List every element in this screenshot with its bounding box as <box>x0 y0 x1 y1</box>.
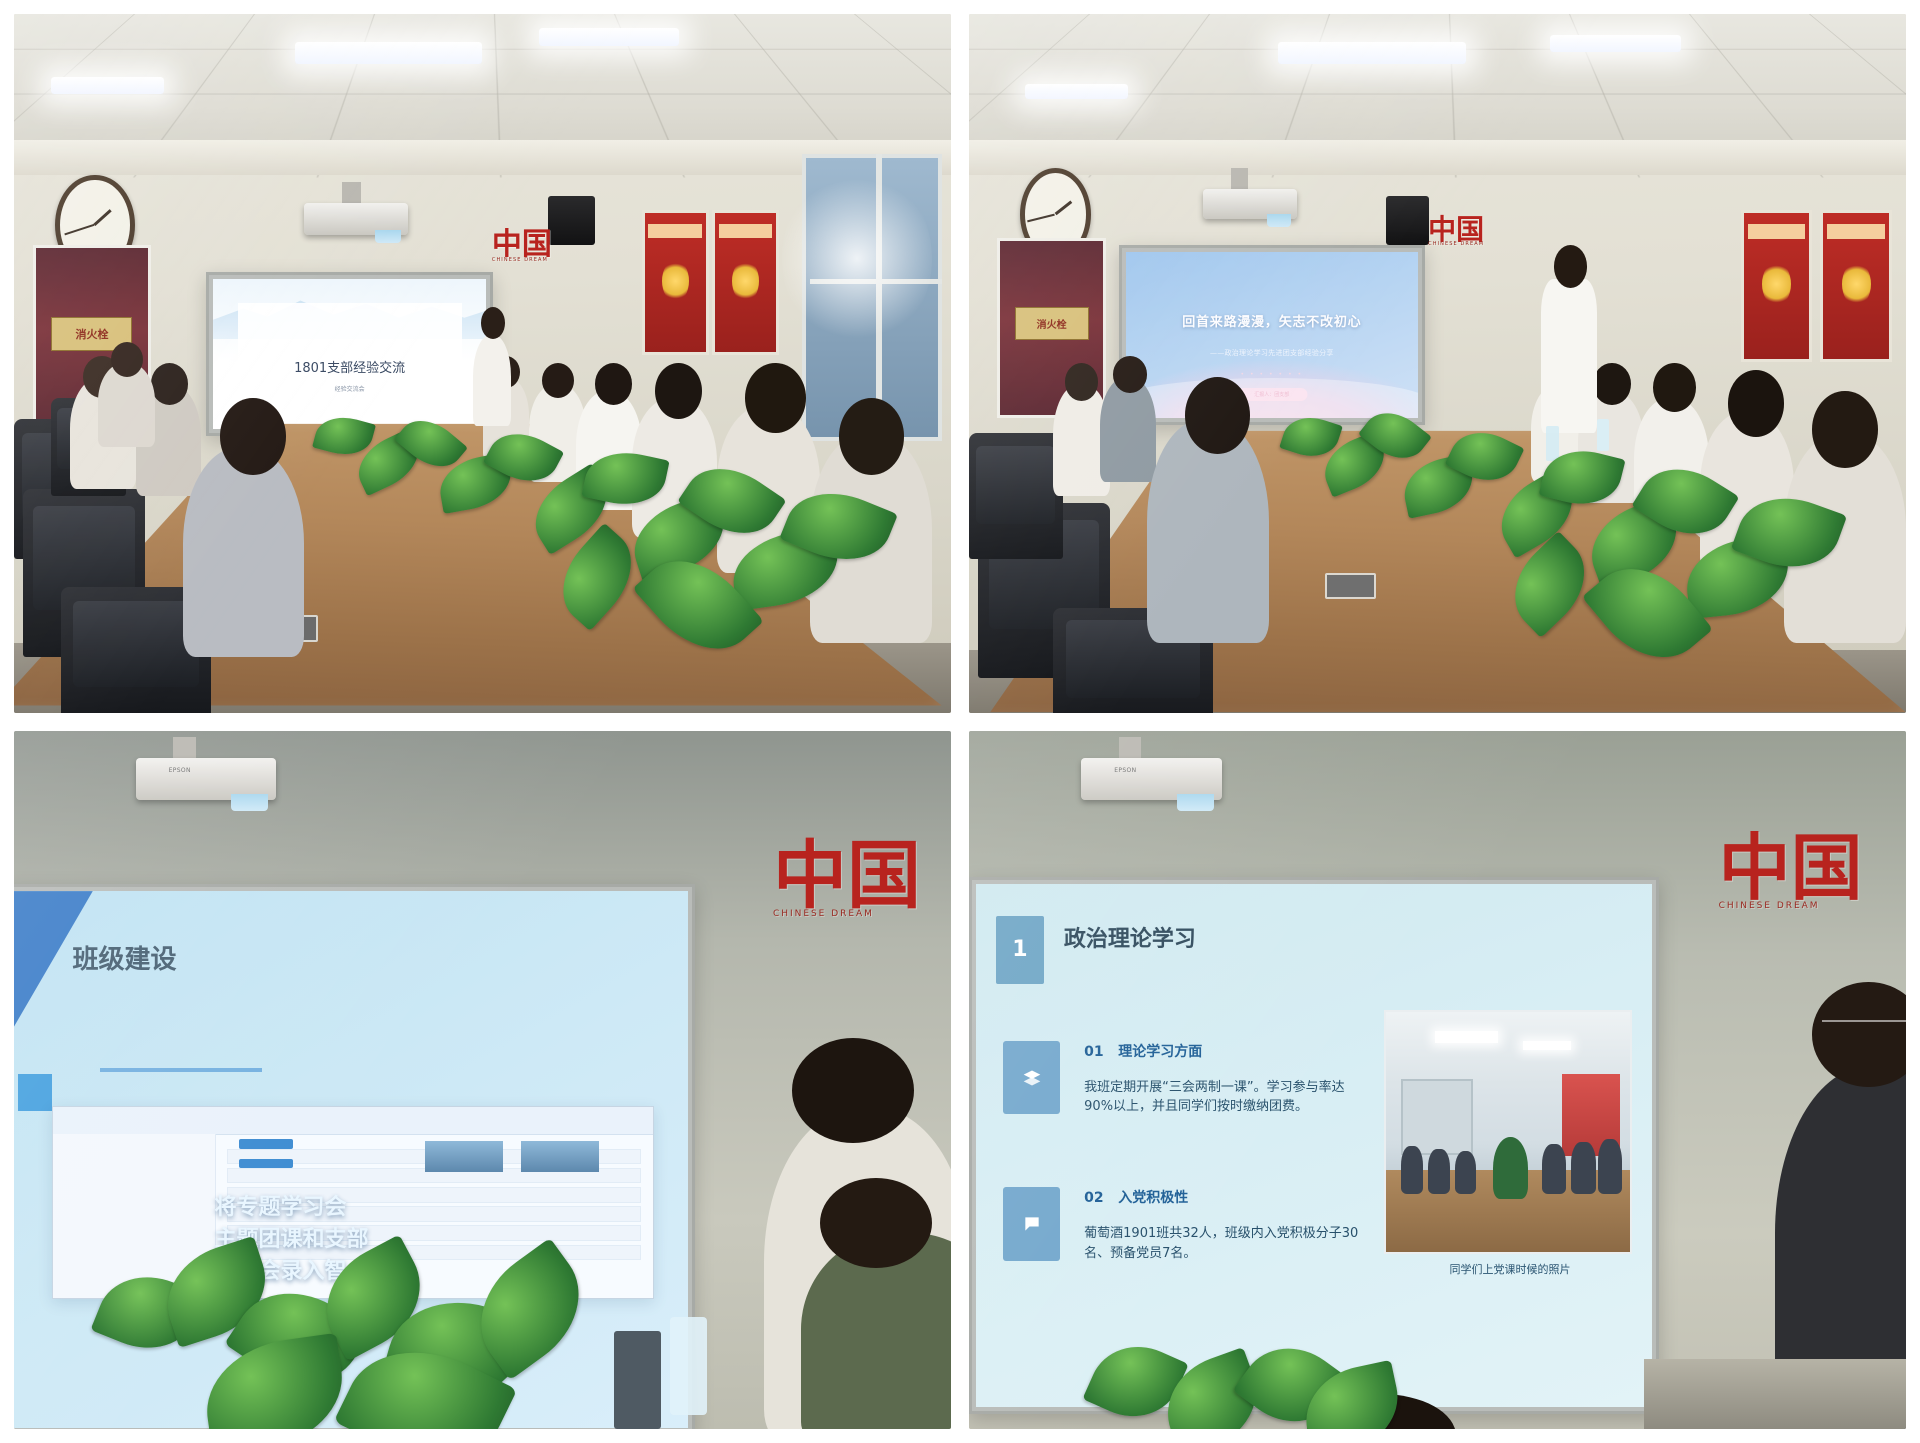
projector <box>136 758 277 800</box>
photo-ceiling-light <box>1523 1041 1572 1051</box>
person-head <box>1065 363 1099 401</box>
wall-speaker <box>1386 196 1429 245</box>
person-head <box>1113 356 1147 392</box>
projector-lens <box>1267 214 1291 227</box>
party-poster <box>1820 210 1892 363</box>
slide-divider <box>100 1068 262 1072</box>
item-index: 02 <box>1084 1190 1103 1206</box>
photo-person <box>1428 1149 1450 1195</box>
poster-emblem <box>732 260 759 302</box>
screenshot-button <box>239 1159 293 1169</box>
item-body: 我班定期开展“三会两制一课”。学习参与率达90%以上，并且同学们按时缴纳团费。 <box>1084 1078 1368 1117</box>
calligraphy-china: 中国 CHINESE DREAM <box>492 231 552 263</box>
poster-band <box>1827 224 1885 239</box>
photo-person <box>1571 1142 1595 1195</box>
person-head <box>820 1178 932 1269</box>
ceiling-light <box>295 42 482 64</box>
section-number-badge: 1 <box>996 916 1043 984</box>
layers-icon <box>1003 1041 1060 1114</box>
screenshot-button <box>239 1139 293 1149</box>
calligraphy-pinyin: CHINESE DREAM <box>492 258 552 263</box>
projector <box>1203 189 1297 220</box>
party-poster <box>1741 210 1813 363</box>
projector-lens <box>375 230 402 243</box>
chat-icon <box>1003 1187 1060 1260</box>
item-body: 葡萄酒1901班共32人，班级内入党积极分子30名、预备党员7名。 <box>1084 1224 1368 1263</box>
table-plant-row <box>1278 398 1821 705</box>
item-index: 01 <box>1084 1044 1103 1060</box>
slide-subtitle: ——政治理论学习先进团支部经验分享 <box>1138 348 1406 358</box>
wall-speaker <box>548 196 595 245</box>
seated-person <box>1100 377 1156 482</box>
plant-leaf <box>199 1333 352 1429</box>
screenshot-thumbnail <box>521 1141 599 1172</box>
calligraphy-china: 中国 CHINESE DREAM <box>1428 217 1484 247</box>
water-bottle <box>670 1317 707 1415</box>
overlay-line: 将专题学习会 <box>214 1192 674 1224</box>
poster-band <box>719 224 773 238</box>
person-head <box>151 363 188 405</box>
panel-top-left[interactable]: 消火栓 1801支部经验交流 经验交流会 <box>14 14 951 713</box>
calligraphy-china: 中国 CHINESE DREAM <box>1719 835 1863 910</box>
clock-hour-hand <box>1055 201 1073 216</box>
photo-person <box>1598 1139 1622 1194</box>
poster-emblem <box>1762 262 1791 306</box>
photo-caption: 同学们上党课时候的照片 <box>1388 1261 1631 1277</box>
person-head <box>792 1038 914 1143</box>
hydrant-label: 消火栓 <box>1015 307 1089 340</box>
ceiling-light <box>539 28 680 46</box>
projector-lens <box>1177 794 1214 812</box>
projection-screen: 1 政治理论学习 01 理论学习方面 我班定期开展“三会两制一课”。学习参与率达… <box>976 884 1652 1407</box>
slide-title: 回首来路漫漫，矢志不改初心 <box>1138 311 1406 330</box>
calligraphy-char: 中国 <box>1719 826 1863 910</box>
projector <box>304 203 407 235</box>
slide-subtitle: 经验交流会 <box>213 384 486 393</box>
photo-ceiling <box>1386 1012 1629 1084</box>
slide-dot-row: • • • • • • • <box>1126 371 1418 378</box>
ceiling-soffit <box>969 140 1906 175</box>
projector-brand-label: EPSON <box>1114 767 1136 774</box>
poster-emblem <box>1842 262 1871 306</box>
presenter-head <box>1554 245 1588 288</box>
photo-person <box>1542 1144 1566 1195</box>
eyeglasses-icon <box>1822 1020 1906 1036</box>
slide-photo <box>1384 1010 1631 1255</box>
poster-band <box>648 224 702 238</box>
office-chair <box>969 433 1063 559</box>
slide-title: 1801支部经验交流 <box>213 357 486 376</box>
photo-whiteboard <box>1401 1079 1473 1155</box>
panel-bottom-right[interactable]: EPSON 1 政治理论学习 01 理论学习方面 我班 <box>969 731 1906 1430</box>
photo-person <box>1455 1151 1477 1194</box>
screenshot-titlebar <box>53 1107 653 1135</box>
section-title: 政治理论学习 <box>1064 921 1196 953</box>
photo-collage: 消火栓 1801支部经验交流 经验交流会 <box>0 0 1920 1443</box>
panel-top-right[interactable]: 消火栓 回首来路漫漫，矢志不改初心 ——政治理论学习先进团支部经验 <box>969 14 1906 713</box>
ceiling-light <box>51 77 163 94</box>
person-head <box>1185 377 1251 454</box>
seated-person <box>183 447 305 657</box>
item-heading: 02 入党积极性 <box>1084 1187 1188 1207</box>
panel-bottom-left[interactable]: EPSON 班级建设 <box>14 731 951 1430</box>
party-poster <box>642 210 709 356</box>
projector <box>1081 758 1222 800</box>
poster-emblem <box>662 260 689 302</box>
projection-screen: 回首来路漫漫，矢志不改初心 ——政治理论学习先进团支部经验分享 • • • • … <box>1126 252 1418 419</box>
projector-brand-label: EPSON <box>169 767 191 774</box>
calligraphy-china: 中国 CHINESE DREAM <box>773 842 921 918</box>
window-glare <box>782 168 932 350</box>
foreground-plant <box>89 1233 670 1429</box>
photo-person <box>1401 1146 1423 1194</box>
projector-lens <box>231 794 268 812</box>
slide-chip <box>18 1074 52 1112</box>
calligraphy-char: 中国 <box>773 833 921 919</box>
item-title: 理论学习方面 <box>1118 1044 1202 1060</box>
table-plant-row <box>304 405 866 698</box>
item-heading: 01 理论学习方面 <box>1084 1041 1202 1061</box>
screenshot-thumbnail <box>425 1141 503 1172</box>
clock-minute-hand <box>65 224 95 235</box>
ceiling-light <box>1278 42 1465 64</box>
ceiling-light <box>1550 35 1681 52</box>
foreground-plant <box>1081 1331 1400 1429</box>
person-head <box>220 398 286 475</box>
photo-plant <box>1493 1137 1527 1200</box>
item-title: 入党积极性 <box>1118 1190 1188 1206</box>
thermos <box>614 1331 661 1429</box>
party-poster <box>712 210 779 356</box>
clock-hour-hand <box>94 209 112 226</box>
photo-ceiling-light <box>1435 1031 1498 1043</box>
poster-band <box>1748 224 1806 239</box>
foreground-desk <box>1644 1359 1906 1429</box>
slide-title: 班级建设 <box>72 939 176 976</box>
ceiling-light <box>1025 84 1128 99</box>
clock-minute-hand <box>1027 214 1055 223</box>
calligraphy-pinyin: CHINESE DREAM <box>1428 242 1484 247</box>
person-head <box>1812 391 1878 468</box>
